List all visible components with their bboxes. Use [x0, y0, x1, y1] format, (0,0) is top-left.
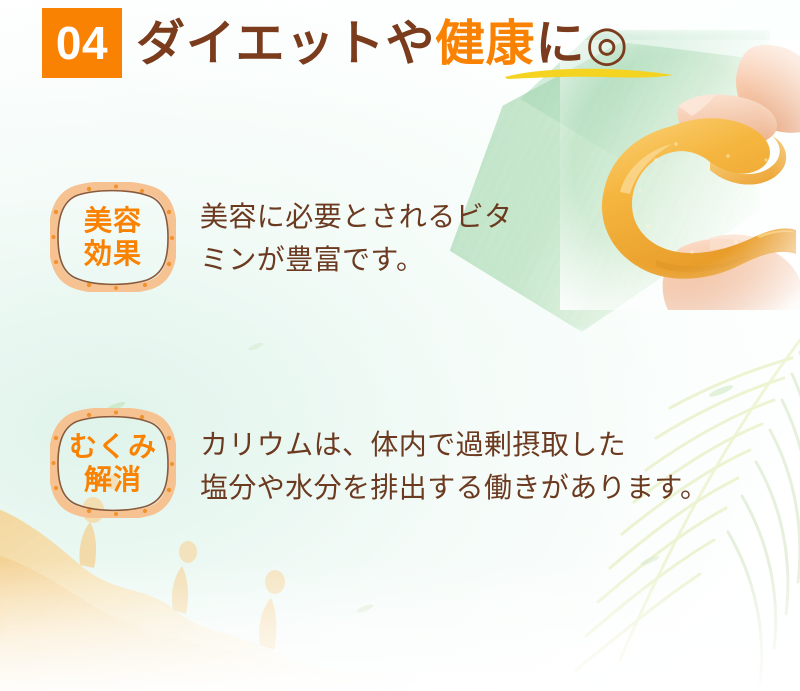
step-number-badge: 04: [42, 8, 122, 78]
feature-tag-label: むくみ 解消: [50, 408, 176, 518]
title-circle-mark-icon: ◎: [586, 15, 630, 72]
tag-label-line-2: 解消: [84, 464, 142, 495]
feature-description: 美容に必要とされるビタ ミンが豊富です。: [200, 196, 512, 281]
feature-description: カリウムは、体内で過剰摂取した 塩分や水分を排出する働きがあります。: [200, 424, 708, 509]
infographic-panel: 04 ダイエットや健康に◎: [0, 0, 800, 691]
title-part-3: に: [536, 15, 586, 72]
title-part-accent: 健康: [436, 15, 536, 72]
feature-tag-beauty: 美容 効果: [50, 182, 176, 292]
section-header: 04 ダイエットや健康に◎: [42, 6, 629, 80]
feature-tag-swelling: むくみ 解消: [50, 408, 176, 518]
leaf-particle: [708, 383, 734, 398]
hand-holding-dried-mango-photo: [560, 40, 800, 310]
feature-tag-label: 美容 効果: [50, 182, 176, 292]
feature-row-swelling: むくみ 解消 カリウムは、体内で過剰摂取した 塩分や水分を排出する働きがあります…: [50, 408, 708, 518]
feature-row-beauty: 美容 効果 美容に必要とされるビタ ミンが豊富です。: [50, 182, 512, 292]
page-title: ダイエットや健康に◎: [136, 19, 629, 68]
tag-label-line-1: 美容: [84, 205, 142, 236]
bottom-fade-overlay: [0, 561, 800, 691]
tag-label-line-2: 効果: [84, 238, 142, 269]
title-part-1: ダイエットや: [136, 15, 436, 72]
tag-label-line-1: むくみ: [69, 431, 157, 462]
leaf-particle: [248, 341, 265, 352]
